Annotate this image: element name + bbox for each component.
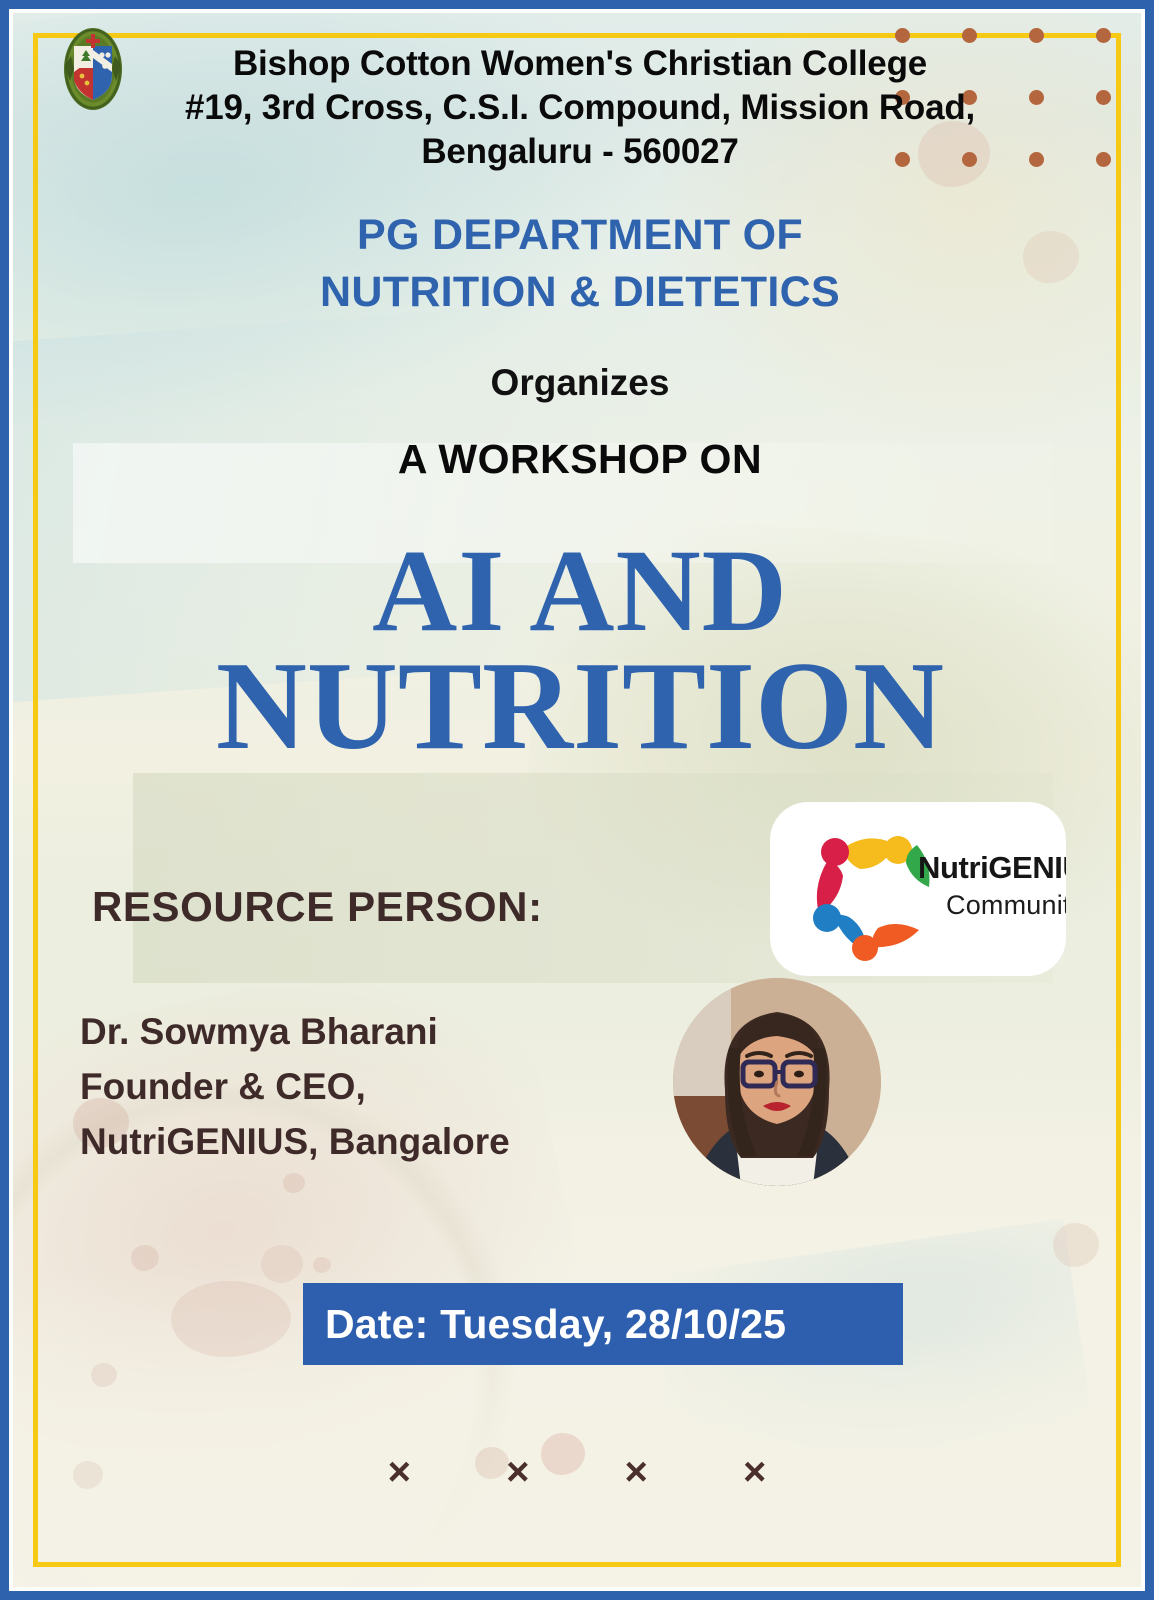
department-line-1: PG DEPARTMENT OF: [80, 207, 1080, 264]
paint-speckle: [171, 1281, 291, 1357]
department-line-2: NUTRITION & DIETETICS: [80, 264, 1080, 321]
paint-speckle: [131, 1245, 159, 1271]
paint-speckle: [1053, 1223, 1099, 1267]
college-name: Bishop Cotton Women's Christian College: [100, 42, 1060, 86]
nutrigenius-wordmark: NutriGENIUS: [918, 850, 1066, 886]
college-city: Bengaluru - 560027: [100, 130, 1060, 174]
avatar: [673, 978, 881, 1186]
speaker-name: Dr. Sowmya Bharani: [80, 1005, 510, 1060]
title-line-1: AI AND: [60, 534, 1100, 647]
paint-speckle: [283, 1173, 305, 1193]
college-street: #19, 3rd Cross, C.S.I. Compound, Mission…: [100, 86, 1060, 130]
organizes-label: Organizes: [80, 362, 1080, 404]
page-title: AI AND NUTRITION: [60, 534, 1100, 768]
paint-speckle: [91, 1363, 117, 1387]
paint-speckle: [313, 1257, 331, 1273]
decorative-x-marks: × × × ×: [0, 1450, 1154, 1495]
nutrigenius-subtitle: Community: [946, 890, 1066, 921]
nutrigenius-logo-card: NutriGENIUS Community: [770, 802, 1066, 976]
workshop-on-label: A WORKSHOP ON: [80, 436, 1080, 483]
nutrigenius-people-circle-icon: [786, 808, 948, 970]
speaker-org: NutriGENIUS, Bangalore: [80, 1115, 510, 1170]
paint-speckle: [261, 1245, 303, 1283]
resource-person-details: Dr. Sowmya Bharani Founder & CEO, NutriG…: [80, 1005, 510, 1169]
resource-person-label: RESOURCE PERSON:: [92, 883, 543, 931]
title-line-2: NUTRITION: [60, 647, 1100, 768]
workshop-poster: Bishop Cotton Women's Christian College …: [0, 0, 1154, 1600]
event-date: Date: Tuesday, 28/10/25: [325, 1301, 786, 1348]
speaker-role: Founder & CEO,: [80, 1060, 510, 1115]
date-banner: Date: Tuesday, 28/10/25: [303, 1283, 903, 1365]
department-heading: PG DEPARTMENT OF NUTRITION & DIETETICS: [80, 207, 1080, 321]
college-address-header: Bishop Cotton Women's Christian College …: [100, 42, 1060, 173]
